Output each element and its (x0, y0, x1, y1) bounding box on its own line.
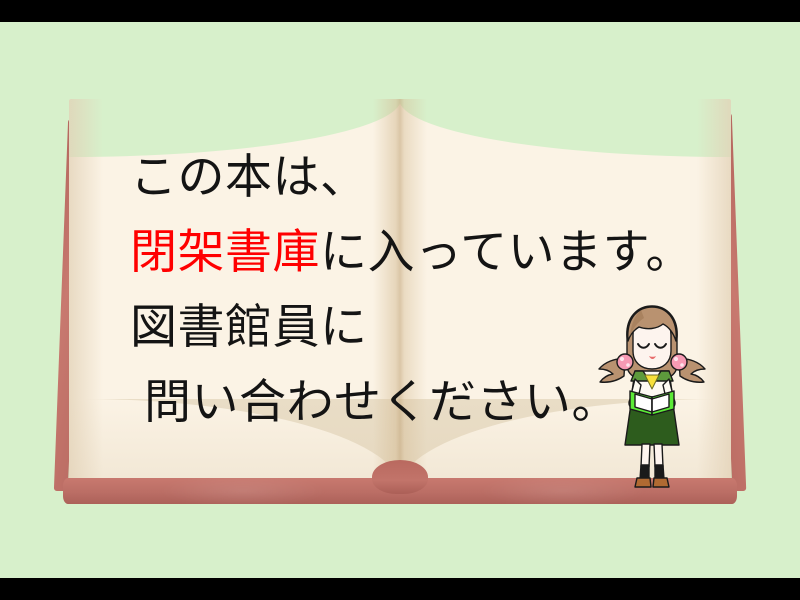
shoe-left (635, 478, 651, 487)
notice-line-2: 閉架書庫に入っています。 (130, 215, 690, 290)
hairtie-left-dot-b (626, 363, 630, 367)
notice-line-1: この本は、 (130, 140, 690, 215)
letterbox-bar-bottom (0, 578, 800, 600)
notice-line-2-text: に入っています。 (320, 225, 693, 280)
page-shadow-left (69, 99, 103, 491)
reading-girl-illustration (597, 299, 707, 489)
notice-line-4-text: 問い合わせください。 (144, 375, 619, 430)
notice-line-1-text: この本は、 (130, 150, 368, 205)
leg-left (641, 444, 650, 467)
shoe-right (653, 478, 669, 487)
leg-right (654, 444, 663, 467)
hairtie-right-dot-b (680, 363, 684, 367)
green-backdrop: この本は、 閉架書庫に入っています。 図書館員に 問い合わせください。 (0, 22, 800, 578)
hairtie-right-dot-a (674, 357, 678, 361)
notice-highlight-term: 閉架書庫 (130, 225, 320, 280)
sock-left (640, 465, 649, 479)
slide-canvas: この本は、 閉架書庫に入っています。 図書館員に 問い合わせください。 (0, 0, 800, 600)
hairtie-left (617, 354, 633, 370)
book-spine-knot (372, 460, 428, 494)
notice-line-3-text: 図書館員に (130, 300, 368, 355)
sock-right (655, 465, 664, 479)
hairtie-right (671, 354, 687, 370)
letterbox-bar-top (0, 0, 800, 22)
hairtie-left-dot-a (620, 357, 624, 361)
